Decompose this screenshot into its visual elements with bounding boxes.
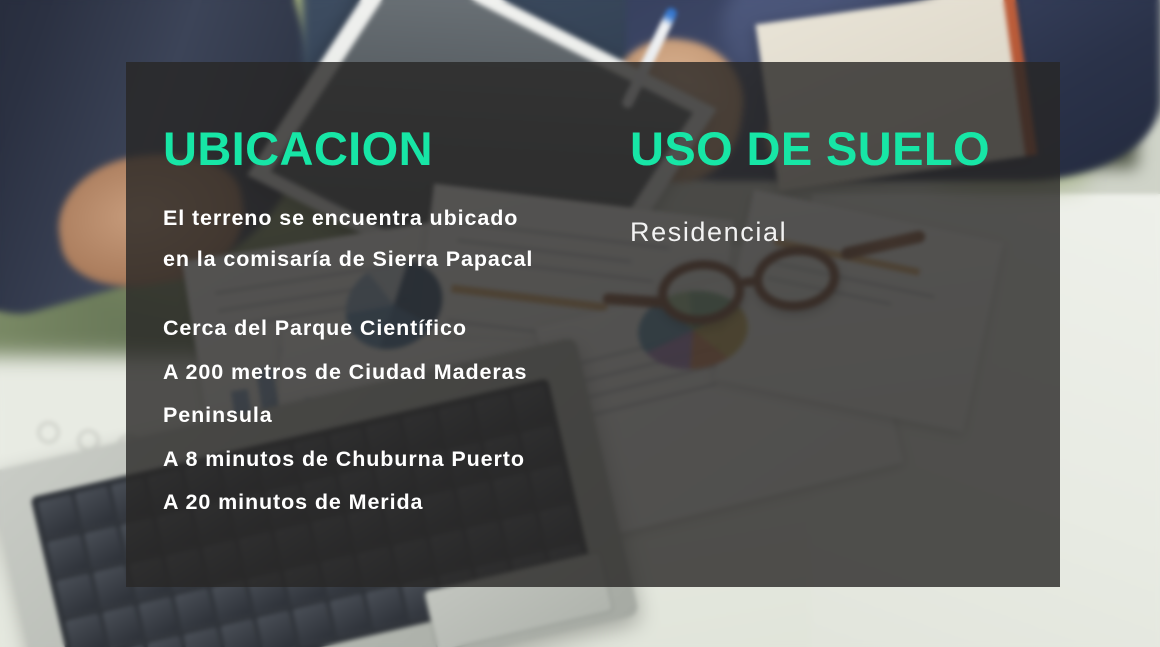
uso-de-suelo-value: Residencial <box>630 217 990 248</box>
content-overlay-panel: UBICACION El terreno se encuentra ubicad… <box>126 62 1060 587</box>
right-column: USO DE SUELO Residencial <box>630 62 990 248</box>
ubicacion-bullet-list: Cerca del Parque Científico A 200 metros… <box>163 318 533 514</box>
uso-de-suelo-heading: USO DE SUELO <box>630 125 990 172</box>
ubicacion-lede-line-2: en la comisaría de Sierra Papacal <box>163 249 533 271</box>
ubicacion-lede-line-1: El terreno se encuentra ubicado <box>163 208 533 230</box>
left-column: UBICACION El terreno se encuentra ubicad… <box>163 62 533 514</box>
ubicacion-heading: UBICACION <box>163 125 533 172</box>
sleeve-button <box>80 432 97 449</box>
presentation-slide: UBICACION El terreno se encuentra ubicad… <box>0 0 1160 647</box>
list-item: A 20 minutos de Merida <box>163 492 533 514</box>
list-item: Peninsula <box>163 405 533 427</box>
list-item: A 8 minutos de Chuburna Puerto <box>163 449 533 471</box>
list-item: A 200 metros de Ciudad Maderas <box>163 362 533 384</box>
sleeve-button <box>40 424 57 441</box>
list-item: Cerca del Parque Científico <box>163 318 533 340</box>
